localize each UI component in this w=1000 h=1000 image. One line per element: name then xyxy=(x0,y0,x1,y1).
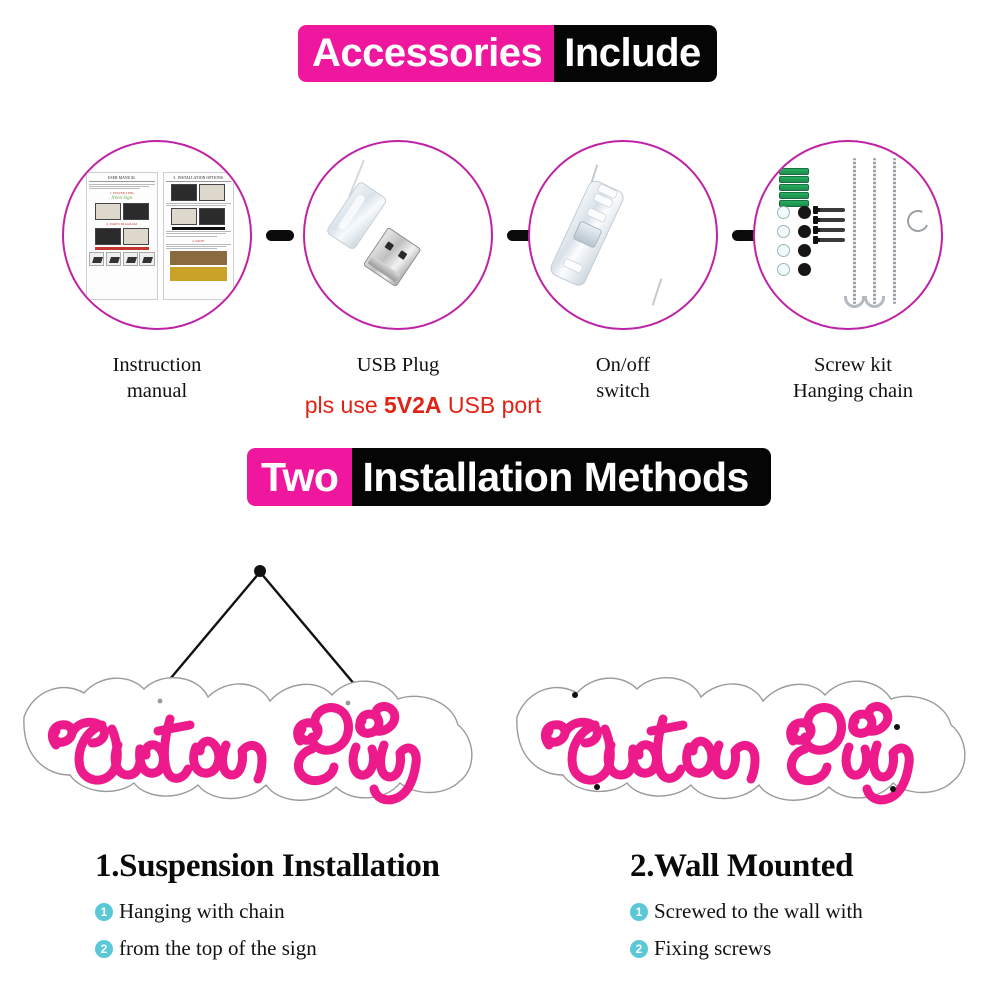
manual-section-power-link: 1. POWER LINK xyxy=(89,191,155,195)
manual-section-note: 4. NOTE xyxy=(166,239,232,243)
usb-power-note: pls use 5V2A USB port xyxy=(258,392,588,419)
method-2-title: 2.Wall Mounted xyxy=(630,848,863,885)
accessory-item-onoff-switch xyxy=(528,140,728,335)
note-bold-value: 5V2A xyxy=(384,392,442,418)
manual-page-1: USER MANUAL 1. POWER LINK Neon Sign 2. P… xyxy=(86,172,158,300)
method-2-step-1: 1 Screwed to the wall with xyxy=(630,899,863,924)
step-text: Hanging with chain xyxy=(119,899,285,924)
method-suspension-installation: 1.Suspension Installation 1 Hanging with… xyxy=(95,848,440,973)
accessory-item-screw-kit xyxy=(753,140,953,335)
manual-page1-title: USER MANUAL xyxy=(89,176,155,182)
onoff-switch-icon xyxy=(528,140,718,330)
banner-highlight-two: Two xyxy=(247,448,352,506)
manual-pages: USER MANUAL 1. POWER LINK Neon Sign 2. P… xyxy=(86,172,234,300)
step-text: Fixing screws xyxy=(654,936,771,961)
manual-section-parts: 2. PARTS DIAGRAM xyxy=(89,222,155,226)
label-screw-kit: Screw kit Hanging chain xyxy=(748,352,958,404)
banner-rest-installation-methods: Installation Methods xyxy=(352,448,770,506)
method-2-step-2: 2 Fixing screws xyxy=(630,936,863,961)
usb-plug-icon xyxy=(303,140,493,330)
note-suffix: USB port xyxy=(442,392,542,418)
step-number-badge: 2 xyxy=(630,940,648,958)
instruction-manual-icon: USER MANUAL 1. POWER LINK Neon Sign 2. P… xyxy=(62,140,252,330)
wall-mounted-sign xyxy=(505,645,985,815)
step-number-badge: 1 xyxy=(95,903,113,921)
accessories-include-banner: Accessories Include xyxy=(298,25,717,82)
two-installation-methods-banner: Two Installation Methods xyxy=(247,448,771,506)
product-infographic: Accessories Include USER MANUAL 1. POWER… xyxy=(0,0,1000,1000)
banner-highlight-accessories: Accessories xyxy=(298,25,554,82)
method-1-step-2: 2 from the top of the sign xyxy=(95,936,440,961)
banner-rest-include: Include xyxy=(554,25,717,82)
label-instruction-manual: Instruction manual xyxy=(57,352,257,404)
accessory-item-usb-plug xyxy=(303,140,503,335)
note-prefix: pls use xyxy=(305,392,384,418)
suspension-sign xyxy=(12,645,492,815)
accessories-row: USER MANUAL 1. POWER LINK Neon Sign 2. P… xyxy=(0,140,1000,350)
label-usb-plug: USB Plug xyxy=(298,352,498,378)
step-number-badge: 2 xyxy=(95,940,113,958)
step-text: Screwed to the wall with xyxy=(654,899,863,924)
manual-page2-title: 3. INSTALLATION OPTIONS xyxy=(166,176,232,182)
method-1-step-1: 1 Hanging with chain xyxy=(95,899,440,924)
manual-page-2: 3. INSTALLATION OPTIONS 4. NOTE xyxy=(163,172,235,300)
step-number-badge: 1 xyxy=(630,903,648,921)
screw-kit-icon xyxy=(753,140,943,330)
method-wall-mounted: 2.Wall Mounted 1 Screwed to the wall wit… xyxy=(630,848,863,973)
connector-dash-1 xyxy=(266,230,294,241)
accessory-item-instruction-manual: USER MANUAL 1. POWER LINK Neon Sign 2. P… xyxy=(62,140,262,335)
method-1-title: 1.Suspension Installation xyxy=(95,848,440,885)
step-text: from the top of the sign xyxy=(119,936,317,961)
manual-script-sample: Neon Sign xyxy=(89,196,155,201)
